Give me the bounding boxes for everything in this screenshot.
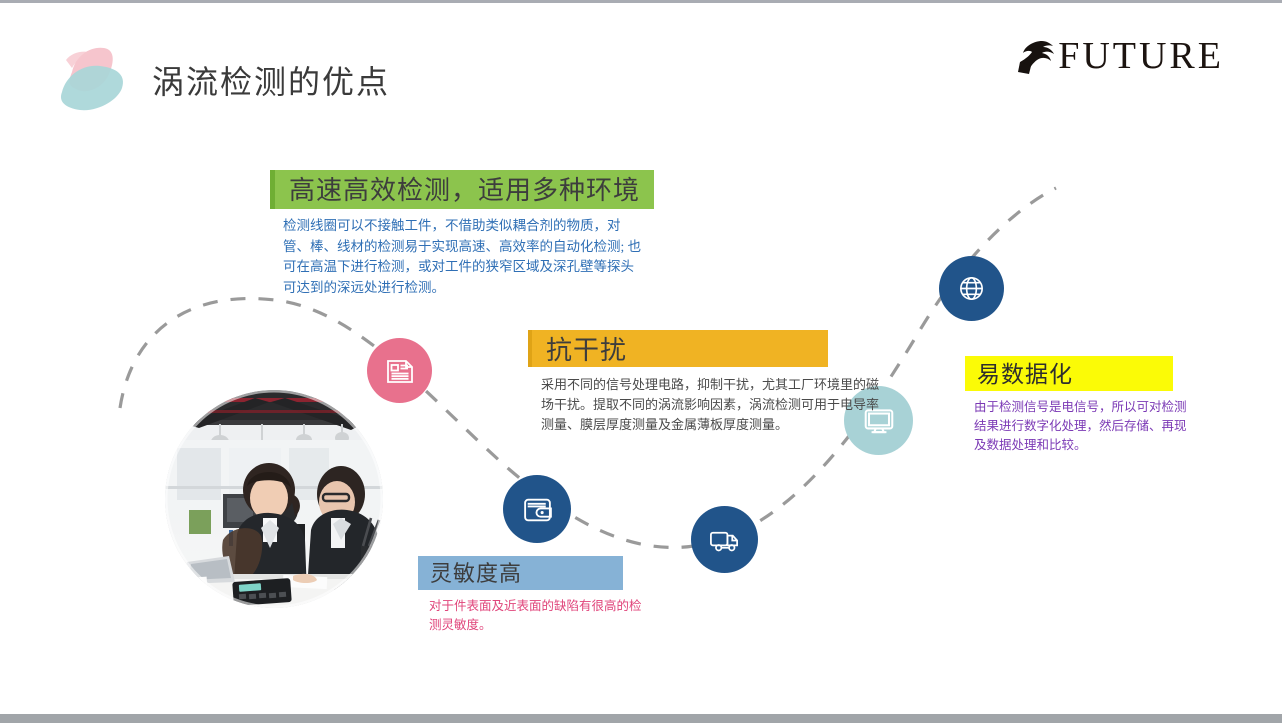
feature-title: 抗干扰	[546, 336, 627, 365]
feature-block-digitization: 易数据化 由于检测信号是电信号，所以可对检测结果进行数字化处理，然后存储、再现及…	[965, 356, 1173, 455]
truck-icon-bubble[interactable]	[691, 506, 758, 573]
feature-title-bar: 高速高效检测，适用多种环境	[270, 170, 654, 209]
feature-block-high-speed: 高速高效检测，适用多种环境 检测线圈可以不接触工件，不借助类似耦合剂的物质，对管…	[270, 170, 654, 298]
brush-f-icon	[1016, 32, 1062, 81]
truck-icon	[708, 523, 741, 556]
globe-icon-bubble[interactable]	[939, 256, 1004, 321]
bottom-divider	[0, 714, 1282, 723]
feature-block-sensitivity: 灵敏度高 对于件表面及近表面的缺陷有很高的检测灵敏度。	[418, 556, 623, 635]
brand-name: FUTURE	[1058, 37, 1224, 75]
feature-title: 灵敏度高	[430, 561, 522, 586]
document-icon	[384, 355, 416, 387]
feature-title-bar: 易数据化	[965, 356, 1173, 391]
globe-icon	[956, 273, 987, 304]
brand-logo: FUTURE	[1016, 33, 1224, 79]
wallet-icon-bubble[interactable]	[503, 475, 571, 543]
document-icon-bubble[interactable]	[367, 338, 432, 403]
feature-title: 易数据化	[977, 362, 1073, 387]
slide-canvas: 涡流检测的优点 FUTURE	[0, 0, 1282, 727]
top-divider	[0, 0, 1282, 3]
feature-title-bar: 抗干扰	[528, 330, 828, 367]
page-title: 涡流检测的优点	[152, 57, 390, 103]
wallet-icon	[521, 493, 554, 526]
feature-title: 高速高效检测，适用多种环境	[289, 176, 640, 205]
feature-title-bar: 灵敏度高	[418, 556, 623, 590]
brush-stroke-icon	[52, 42, 142, 116]
feature-body: 采用不同的信号处理电路，抑制干扰，尤其工厂环境里的磁场干扰。提取不同的涡流影响因…	[541, 375, 886, 434]
feature-body: 检测线圈可以不接触工件，不借助类似耦合剂的物质，对管、棒、线材的检测易于实现高速…	[283, 216, 643, 298]
feature-body: 对于件表面及近表面的缺陷有很高的检测灵敏度。	[429, 597, 649, 635]
office-team-photo	[165, 390, 383, 608]
feature-body: 由于检测信号是电信号，所以可对检测结果进行数字化处理，然后存储、再现及数据处理和…	[974, 398, 1196, 455]
feature-block-anti-interference: 抗干扰 采用不同的信号处理电路，抑制干扰，尤其工厂环境里的磁场干扰。提取不同的涡…	[528, 330, 828, 434]
